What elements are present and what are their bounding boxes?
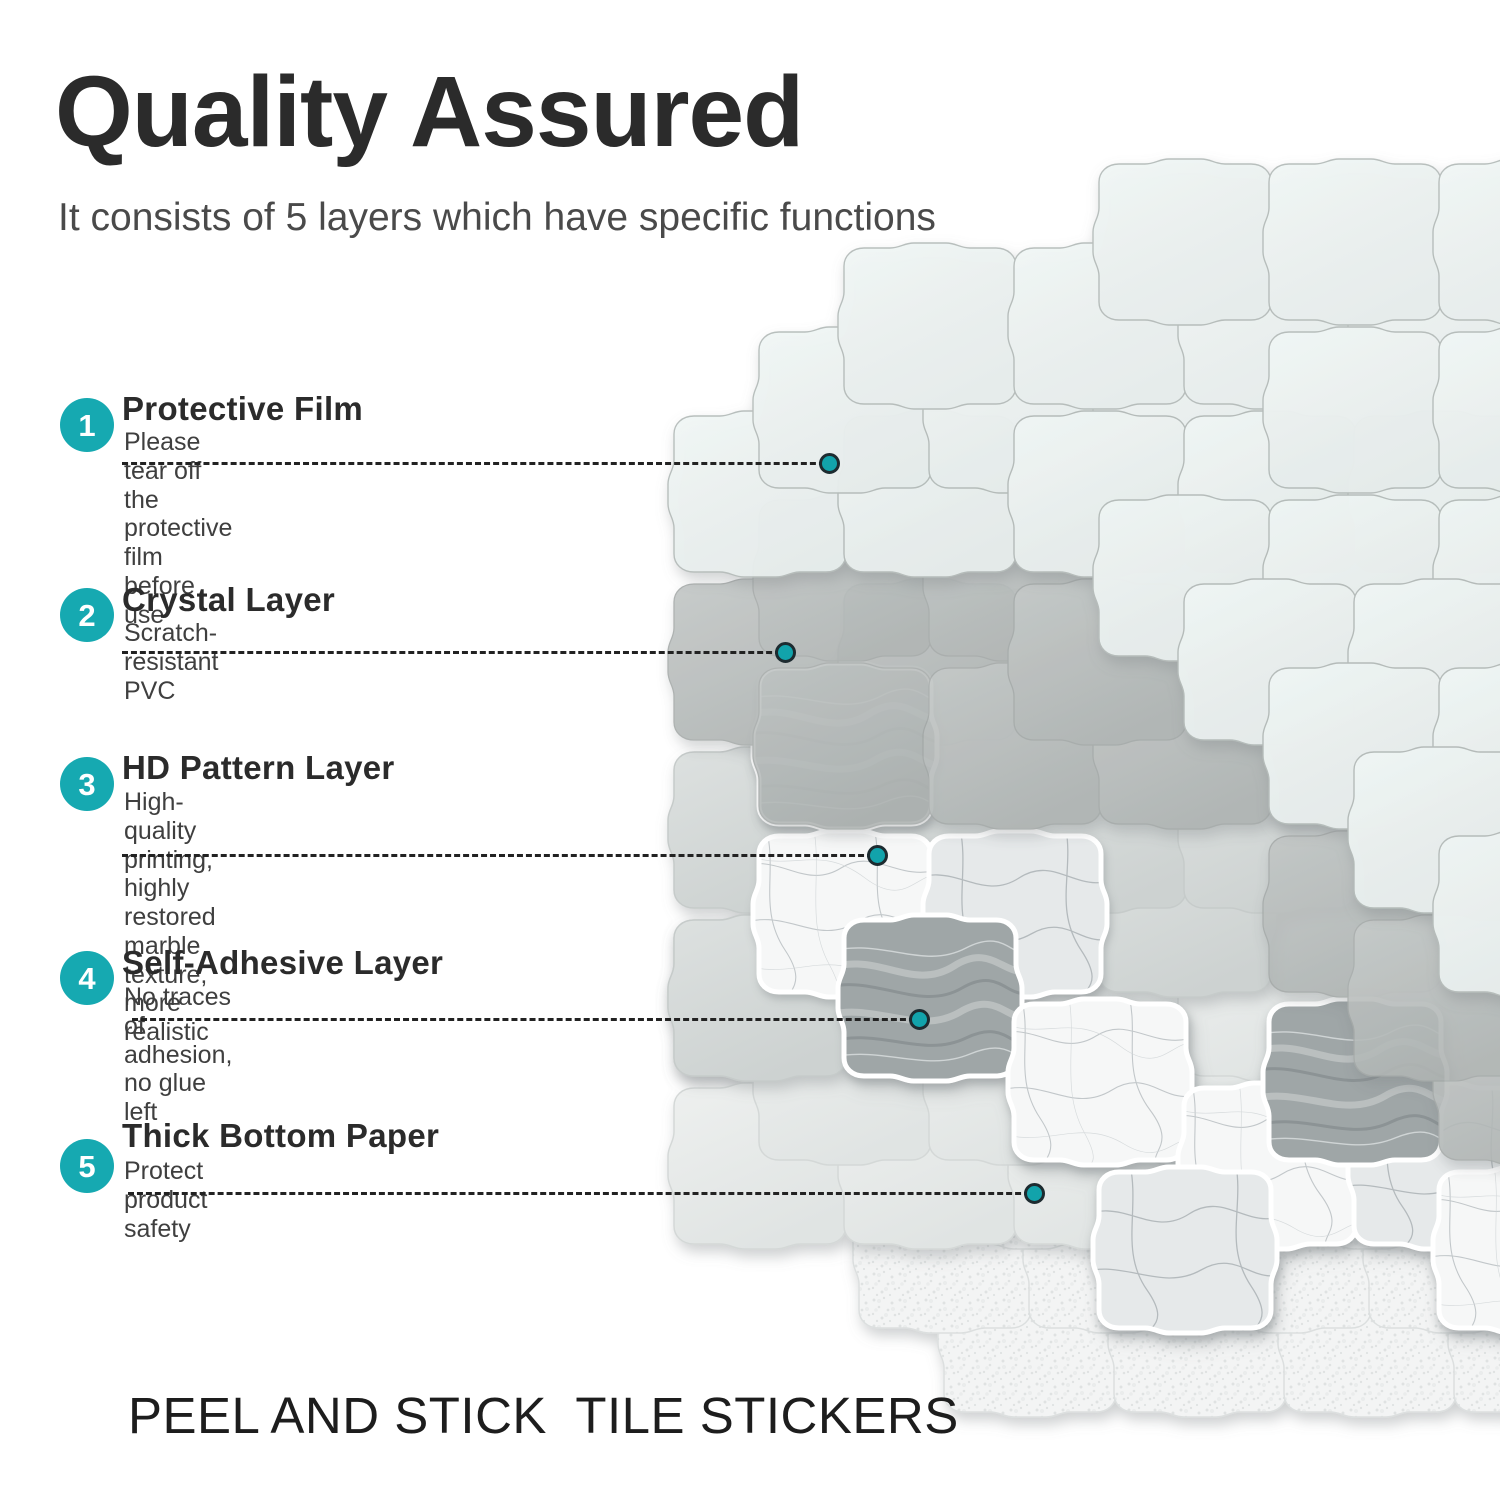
leader-line-3 bbox=[122, 854, 882, 856]
layer-title-1: Protective Film bbox=[122, 392, 363, 425]
layer-title-3: HD Pattern Layer bbox=[122, 751, 395, 784]
leader-dash-3 bbox=[122, 854, 882, 857]
layer-number-badge-4: 4 bbox=[60, 951, 114, 1005]
layer-description-2: Scratch-resistant PVC bbox=[124, 619, 218, 705]
leader-dash-1 bbox=[122, 462, 834, 465]
layer-description-4: No traces of adhesion, no glue left bbox=[124, 983, 232, 1127]
leader-endpoint-dot-5 bbox=[1024, 1183, 1045, 1204]
layer-title-5: Thick Bottom Paper bbox=[122, 1119, 439, 1152]
layer-number-badge-5: 5 bbox=[60, 1139, 114, 1193]
leader-endpoint-dot-1 bbox=[819, 453, 840, 474]
layer-number-badge-3: 3 bbox=[60, 757, 114, 811]
page-title: Quality Assured bbox=[55, 62, 803, 162]
layer-title-4: Self-Adhesive Layer bbox=[122, 946, 443, 979]
leader-line-2 bbox=[122, 651, 790, 653]
page-subtitle: It consists of 5 layers which have speci… bbox=[58, 198, 936, 237]
leader-dash-2 bbox=[122, 651, 790, 654]
leader-line-4 bbox=[132, 1018, 924, 1020]
leader-endpoint-dot-2 bbox=[775, 642, 796, 663]
infographic-canvas: Quality Assured It consists of 5 layers … bbox=[0, 0, 1500, 1500]
leader-line-5 bbox=[128, 1192, 1039, 1194]
leader-dash-5 bbox=[128, 1192, 1039, 1195]
leader-endpoint-dot-4 bbox=[909, 1009, 930, 1030]
layer-title-2: Crystal Layer bbox=[122, 583, 335, 616]
layer-number-badge-1: 1 bbox=[60, 398, 114, 452]
layer-number-badge-2: 2 bbox=[60, 588, 114, 642]
leader-endpoint-dot-3 bbox=[867, 845, 888, 866]
leader-line-1 bbox=[122, 462, 834, 464]
footer-caption: PEEL AND STICK TILE STICKERS bbox=[128, 1386, 959, 1445]
layer-description-5: Protect product safety bbox=[124, 1157, 207, 1243]
leader-dash-4 bbox=[132, 1018, 924, 1021]
